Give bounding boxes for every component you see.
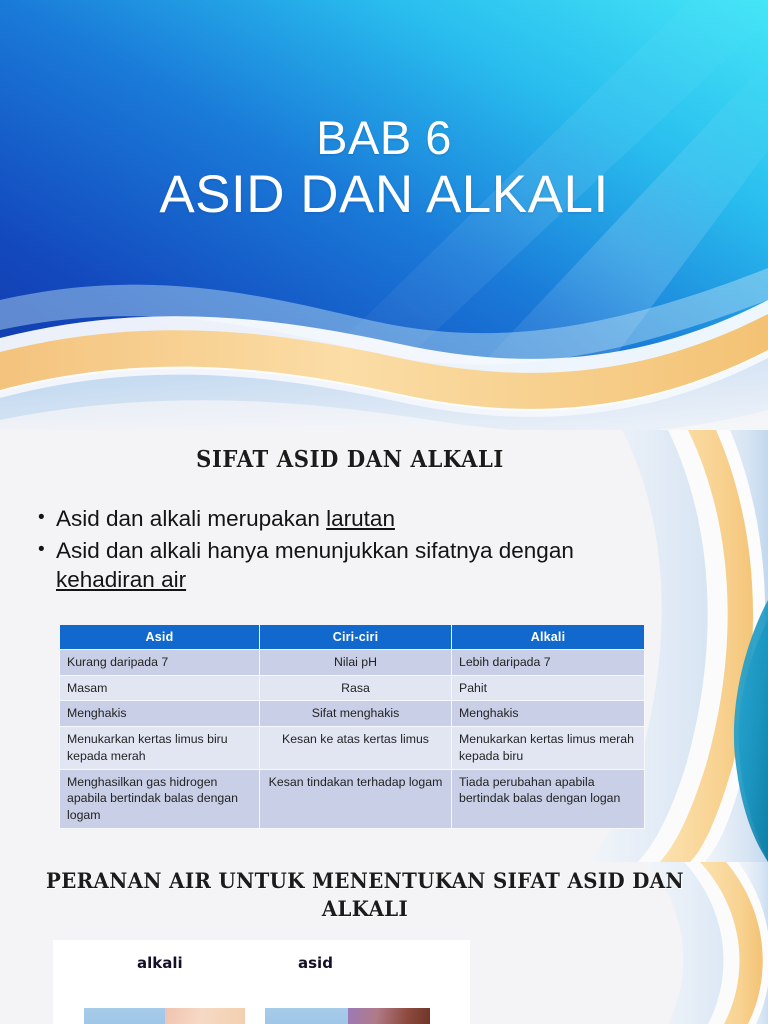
cell-ciri: Rasa — [260, 675, 452, 701]
cell-alkali: Menukarkan kertas limus merah kepada bir… — [452, 727, 645, 769]
properties-table: Asid Ciri-ciri Alkali Kurang daripada 7 … — [59, 624, 645, 829]
table-header-row: Asid Ciri-ciri Alkali — [60, 625, 645, 650]
cell-alkali: Menghakis — [452, 701, 645, 727]
slide-title: BAB 6 ASID DAN ALKALI — [0, 0, 768, 430]
properties-table-wrapper: Asid Ciri-ciri Alkali Kurang daripada 7 … — [59, 624, 644, 829]
column-header-ciri: Ciri-ciri — [260, 625, 452, 650]
table-row: Menghasilkan gas hidrogen apabila bertin… — [60, 769, 645, 828]
bullet-text-plain: Asid dan alkali merupakan — [56, 506, 326, 531]
cell-ciri: Kesan tindakan terhadap logam — [260, 769, 452, 828]
cell-alkali: Lebih daripada 7 — [452, 650, 645, 676]
list-item: • Asid dan alkali hanya menunjukkan sifa… — [38, 537, 678, 595]
photo-alkali-background — [84, 1008, 168, 1024]
photo-asid — [265, 1008, 430, 1024]
photo-alkali-subject — [165, 1008, 246, 1024]
cell-asid: Kurang daripada 7 — [60, 650, 260, 676]
table-row: Menukarkan kertas limus biru kepada mera… — [60, 727, 645, 769]
title-line-2: ASID DAN ALKALI — [0, 165, 768, 224]
photo-comparison-panel: alkali asid — [53, 940, 470, 1024]
cell-alkali: Tiada perubahan apabila bertindak balas … — [452, 769, 645, 828]
bullet-list: • Asid dan alkali merupakan larutan • As… — [38, 505, 678, 597]
photo-alkali — [84, 1008, 245, 1024]
table-row: Menghakis Sifat menghakis Menghakis — [60, 701, 645, 727]
bullet-marker-icon: • — [38, 537, 56, 562]
photo-label-asid: asid — [298, 954, 333, 972]
bullet-text-plain: Asid dan alkali hanya menunjukkan sifatn… — [56, 538, 574, 563]
cell-ciri: Nilai pH — [260, 650, 452, 676]
section-heading-peranan-air: PERANAN AIR UNTUK MENENTUKAN SIFAT ASID … — [29, 868, 701, 925]
slide-title-text-block: BAB 6 ASID DAN ALKALI — [0, 112, 768, 224]
list-item: • Asid dan alkali merupakan larutan — [38, 505, 678, 534]
cell-asid: Menghakis — [60, 701, 260, 727]
cell-ciri: Kesan ke atas kertas limus — [260, 727, 452, 769]
bullet-text-underlined: kehadiran air — [56, 567, 186, 592]
bullet-text: Asid dan alkali hanya menunjukkan sifatn… — [56, 537, 678, 595]
cell-ciri: Sifat menghakis — [260, 701, 452, 727]
photo-asid-background — [265, 1008, 351, 1024]
slide-peranan-air: PERANAN AIR UNTUK MENENTUKAN SIFAT ASID … — [0, 862, 768, 1024]
table-row: Kurang daripada 7 Nilai pH Lebih daripad… — [60, 650, 645, 676]
title-line-1: BAB 6 — [0, 112, 768, 165]
cell-asid: Masam — [60, 675, 260, 701]
table-row: Masam Rasa Pahit — [60, 675, 645, 701]
bullet-text: Asid dan alkali merupakan larutan — [56, 505, 678, 534]
photo-label-alkali: alkali — [137, 954, 183, 972]
bullet-text-underlined: larutan — [326, 506, 395, 531]
cell-asid: Menghasilkan gas hidrogen apabila bertin… — [60, 769, 260, 828]
section-heading-sifat: SIFAT ASID DAN ALKALI — [28, 446, 672, 473]
photo-label-row: alkali asid — [53, 954, 470, 978]
cell-asid: Menukarkan kertas limus biru kepada mera… — [60, 727, 260, 769]
column-header-asid: Asid — [60, 625, 260, 650]
photo-asid-subject — [348, 1008, 431, 1024]
column-header-alkali: Alkali — [452, 625, 645, 650]
slide-properties: SIFAT ASID DAN ALKALI • Asid dan alkali … — [0, 430, 768, 862]
presentation-deck: BAB 6 ASID DAN ALKALI — [0, 0, 768, 1024]
cell-alkali: Pahit — [452, 675, 645, 701]
bullet-marker-icon: • — [38, 505, 56, 530]
